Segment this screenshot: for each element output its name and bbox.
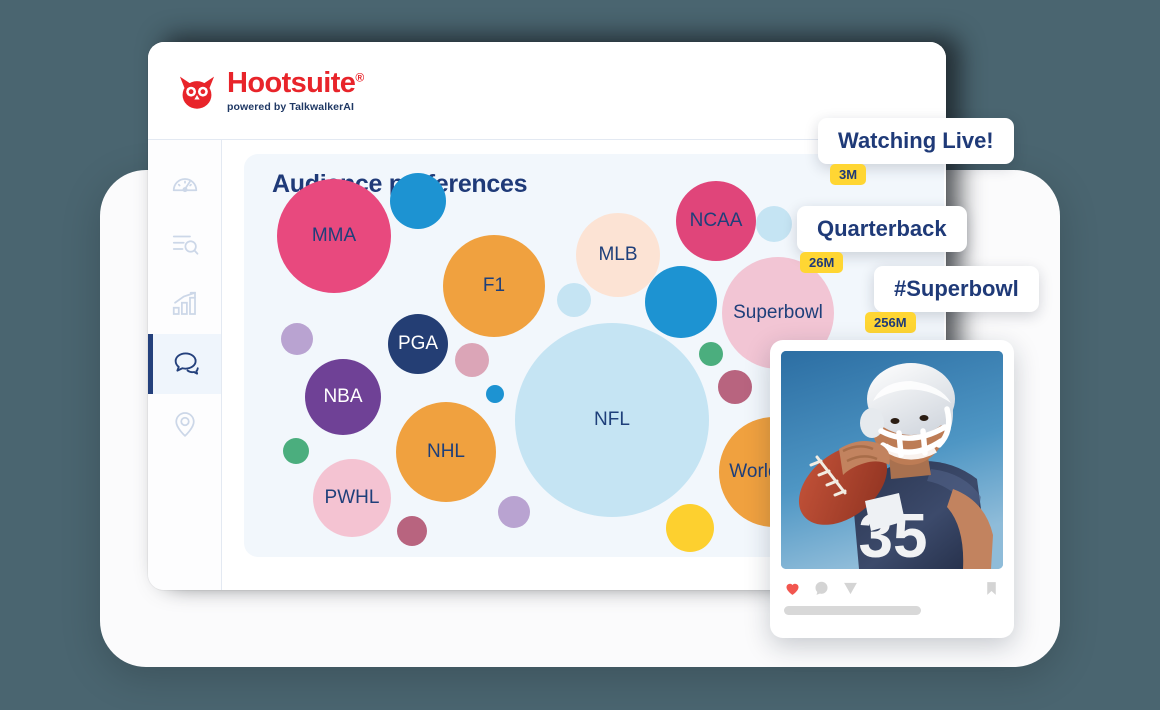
bubble-decorative-23[interactable] bbox=[756, 206, 792, 242]
tooltip-quarterback-badge: 26M bbox=[800, 252, 843, 273]
tooltip-superbowl-badge: 256M bbox=[865, 312, 916, 333]
brand-logo[interactable]: Hootsuite® powered by TalkwalkerAI bbox=[176, 69, 364, 113]
tooltip-quarterback[interactable]: Quarterback bbox=[797, 206, 967, 252]
bubble-label: MMA bbox=[312, 225, 356, 247]
bubble-nfl[interactable]: NFL bbox=[515, 323, 709, 517]
bubble-label: Superbowl bbox=[733, 302, 823, 324]
bubble-f1[interactable]: F1 bbox=[443, 235, 545, 337]
like-icon[interactable] bbox=[784, 580, 801, 597]
tooltip-superbowl[interactable]: #Superbowl bbox=[874, 266, 1039, 312]
bubble-label: NFL bbox=[594, 409, 630, 431]
sidebar-item-search[interactable] bbox=[148, 214, 221, 274]
bubble-decorative-22[interactable] bbox=[666, 504, 714, 552]
registered-mark: ® bbox=[355, 70, 363, 84]
bubble-decorative-17[interactable] bbox=[397, 516, 427, 546]
post-actions bbox=[781, 580, 1003, 597]
sidebar-item-analytics[interactable] bbox=[148, 274, 221, 334]
brand-name: Hootsuite® bbox=[227, 69, 364, 98]
chat-bubbles-icon bbox=[170, 349, 200, 379]
bubble-label: PWHL bbox=[325, 487, 380, 509]
bubble-decorative-9[interactable] bbox=[645, 266, 717, 338]
sidebar-item-dashboard[interactable] bbox=[148, 154, 221, 214]
bubble-decorative-14[interactable] bbox=[455, 343, 489, 377]
bubble-decorative-20[interactable] bbox=[699, 342, 723, 366]
brand-name-text: Hootsuite bbox=[227, 67, 355, 99]
search-list-icon bbox=[170, 229, 200, 259]
bubble-decorative-16[interactable] bbox=[283, 438, 309, 464]
bubble-mlb[interactable]: MLB bbox=[576, 213, 660, 297]
tooltip-watching-live-badge: 3M bbox=[830, 164, 866, 185]
bubble-decorative-18[interactable] bbox=[498, 496, 530, 528]
football-quarterback-photo: 35 bbox=[781, 351, 1003, 569]
bubble-pga[interactable]: PGA bbox=[388, 314, 448, 374]
bubble-label: F1 bbox=[483, 275, 505, 297]
bubble-label: NBA bbox=[323, 386, 362, 408]
bubble-decorative-19[interactable] bbox=[557, 283, 591, 317]
bubble-label: NCAA bbox=[690, 210, 743, 232]
post-caption-placeholder bbox=[784, 606, 921, 615]
share-icon[interactable] bbox=[842, 580, 859, 597]
bubble-label: PGA bbox=[398, 333, 438, 355]
bubble-ncaa[interactable]: NCAA bbox=[676, 181, 756, 261]
tooltip-watching-live[interactable]: Watching Live! bbox=[818, 118, 1014, 164]
bubble-decorative-21[interactable] bbox=[718, 370, 752, 404]
post-photo: 35 bbox=[781, 351, 1003, 569]
brand-tagline: powered by TalkwalkerAI bbox=[227, 102, 364, 113]
owl-icon bbox=[176, 70, 218, 112]
bubble-decorative-1[interactable] bbox=[390, 173, 446, 229]
sidebar-item-conversations[interactable] bbox=[148, 334, 221, 394]
bubble-decorative-13[interactable] bbox=[281, 323, 313, 355]
bubble-pwhl[interactable]: PWHL bbox=[313, 459, 391, 537]
sidebar-item-location[interactable] bbox=[148, 394, 221, 454]
gauge-icon bbox=[170, 169, 200, 199]
bubble-label: NHL bbox=[427, 441, 465, 463]
bubble-mma[interactable]: MMA bbox=[277, 179, 391, 293]
social-post-card[interactable]: 35 bbox=[770, 340, 1014, 638]
bookmark-icon[interactable] bbox=[983, 580, 1000, 597]
location-pin-icon bbox=[170, 409, 200, 439]
sidebar bbox=[148, 140, 222, 590]
bar-chart-growth-icon bbox=[170, 289, 200, 319]
bubble-label: MLB bbox=[598, 244, 637, 266]
bubble-nba[interactable]: NBA bbox=[305, 359, 381, 435]
bubble-decorative-15[interactable] bbox=[486, 385, 504, 403]
comment-icon[interactable] bbox=[813, 580, 830, 597]
bubble-nhl[interactable]: NHL bbox=[396, 402, 496, 502]
